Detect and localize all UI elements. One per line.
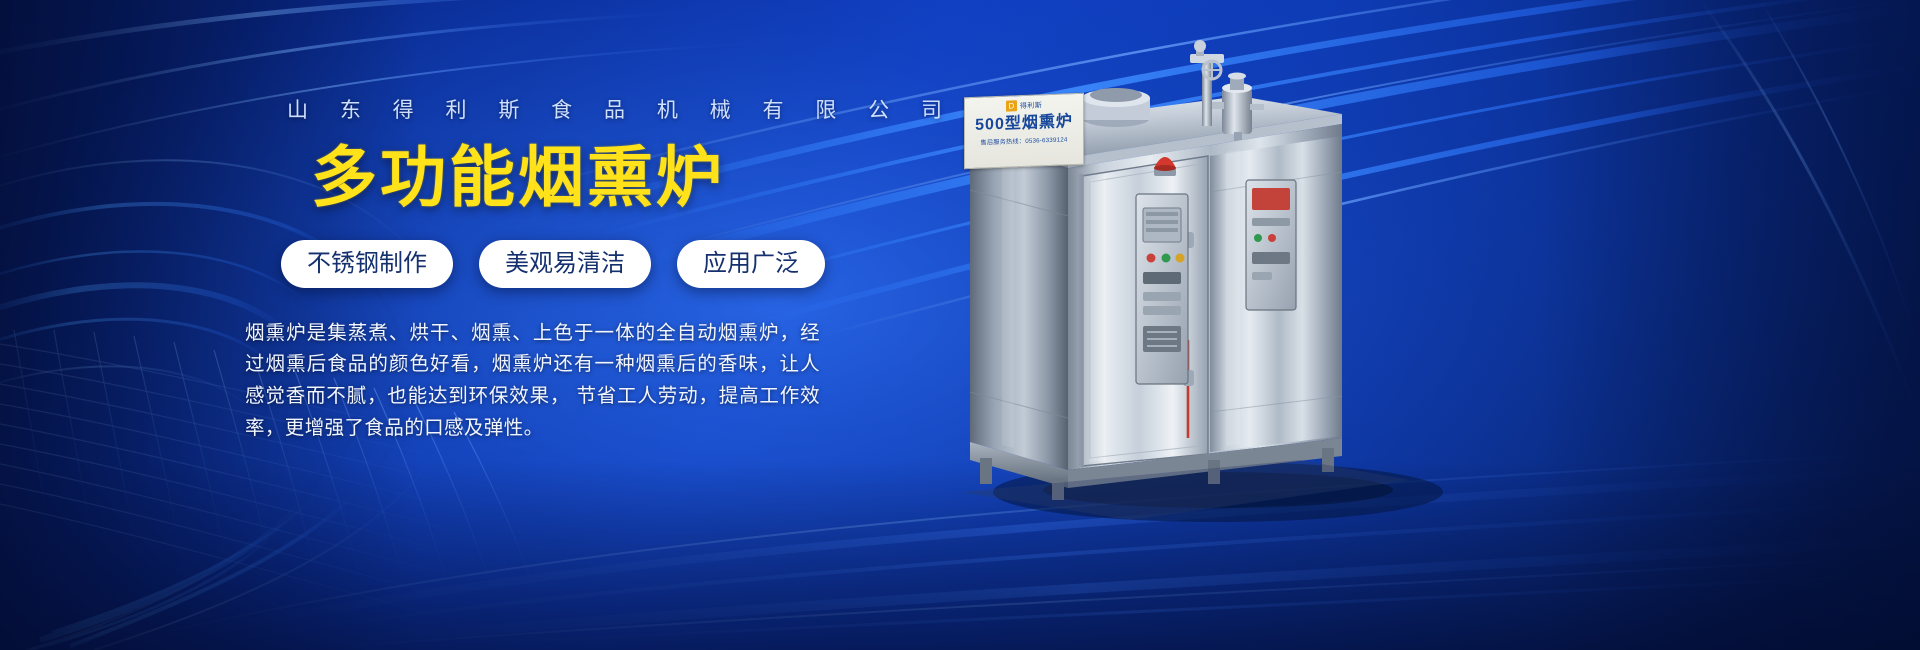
nameplate-model-text: 500型烟熏炉 [975,112,1073,135]
nameplate-hotline-text: 售后服务热线：0536-6339124 [980,135,1067,147]
brand-mark-icon: D [1006,100,1017,111]
product-description: 烟熏炉是集蒸煮、烘干、烟熏、上色于一体的全自动烟熏炉，经过烟熏后食品的颜色好看，… [245,318,820,444]
feature-pill-list: 不锈钢制作 美观易清洁 应用广泛 [245,240,865,288]
product-hero-banner: D 得利斯 500型烟熏炉 售后服务热线：0536-6339124 山 东 得 … [0,0,1920,650]
product-photo-smokehouse-oven: D 得利斯 500型烟熏炉 售后服务热线：0536-6339124 [940,40,1500,540]
banner-copy-block: 山 东 得 利 斯 食 品 机 械 有 限 公 司 多功能烟熏炉 不锈钢制作 美… [245,100,865,444]
headline-title: 多功能烟熏炉 [245,143,865,212]
feature-pill-stainless-steel[interactable]: 不锈钢制作 [281,240,453,288]
machine-nameplate: D 得利斯 500型烟熏炉 售后服务热线：0536-6339124 [964,93,1084,170]
feature-pill-wide-application[interactable]: 应用广泛 [677,240,825,288]
company-name: 山 东 得 利 斯 食 品 机 械 有 限 公 司 [245,100,865,121]
feature-pill-easy-to-clean[interactable]: 美观易清洁 [479,240,651,288]
brand-name-text: 得利斯 [1020,100,1042,111]
nameplate-brand-logo: D 得利斯 [1006,98,1042,112]
